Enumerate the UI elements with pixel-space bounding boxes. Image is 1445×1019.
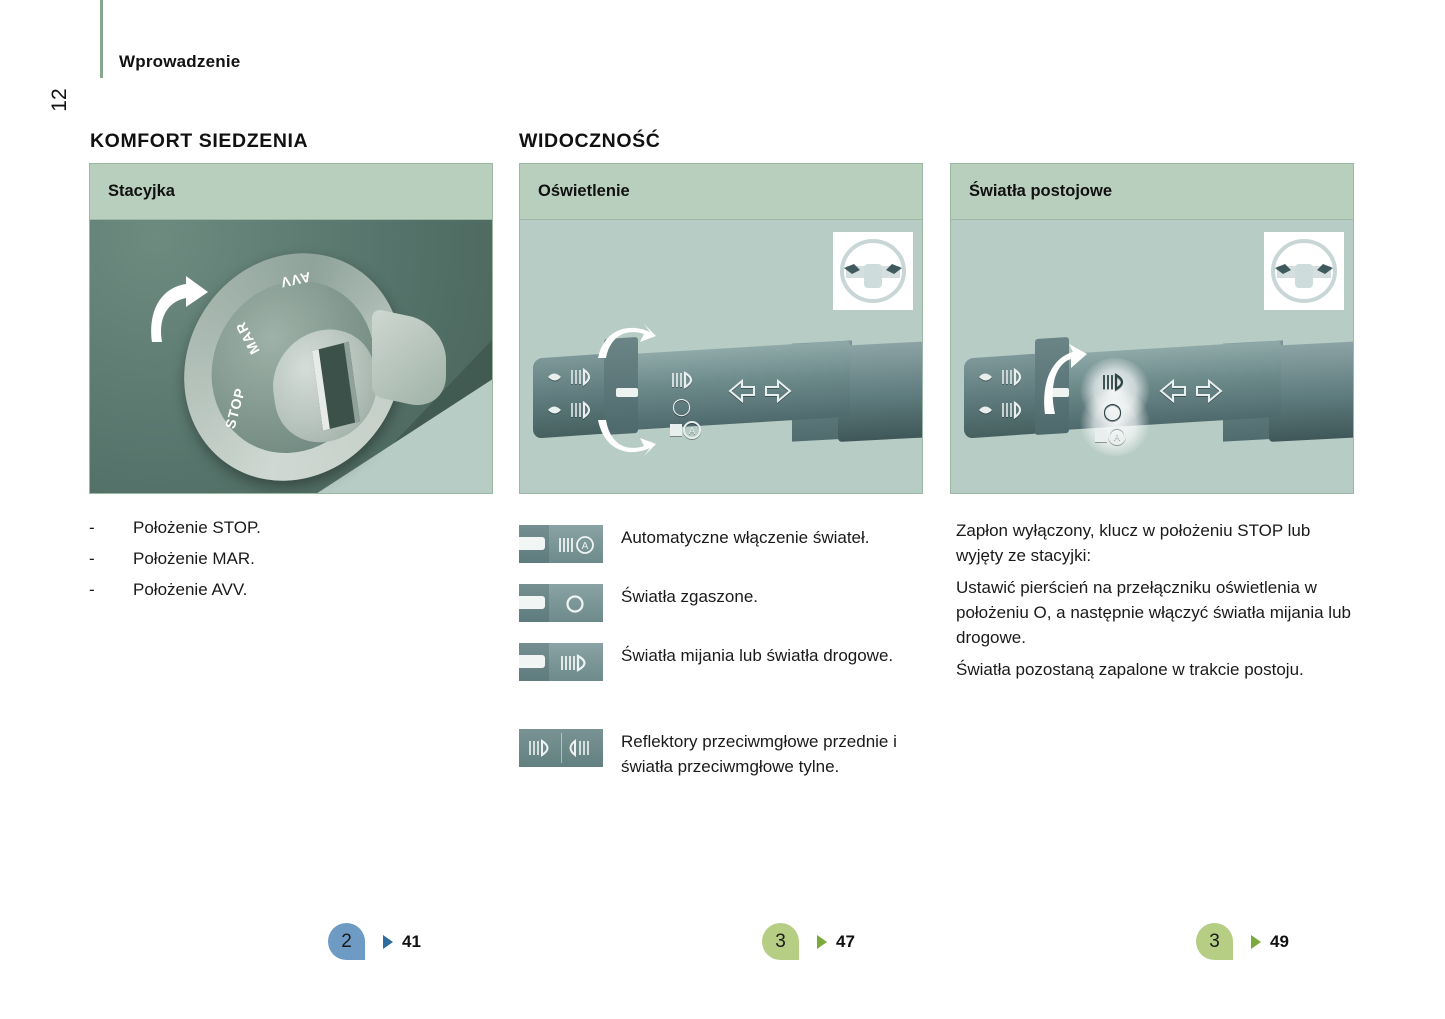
- svg-text:A: A: [582, 541, 589, 552]
- legend-label: Reflektory przeciwmgłowe przednie i świa…: [621, 729, 941, 779]
- paragraph: Zapłon wyłączony, klucz w położeniu STOP…: [956, 518, 1360, 568]
- chapter-title: Wprowadzenie: [119, 52, 240, 72]
- front-fog-light-icon: [977, 367, 1037, 387]
- auto-lights-position-icon: A: [1093, 426, 1129, 446]
- auto-headlights-icon: A: [519, 525, 603, 563]
- parking-lights-description: Zapłon wyłączony, klucz w położeniu STOP…: [956, 518, 1360, 689]
- ignition-barrel: [267, 319, 383, 454]
- swatch-tab: [519, 537, 545, 550]
- panel-header-label: Stacyjka: [108, 182, 175, 201]
- rear-fog-glyph-icon: [569, 738, 599, 758]
- panel-oswietlenie: Oświetlenie: [519, 163, 923, 494]
- steering-wheel-icon: [1269, 238, 1339, 304]
- list-item: - Położenie AVV.: [89, 580, 489, 600]
- list-item: - Położenie MAR.: [89, 549, 489, 569]
- bullet-dash: -: [89, 549, 133, 569]
- ref-arrow-icon: [817, 935, 827, 949]
- stalk-base-arm: [838, 338, 922, 442]
- stalk-index-notch: [616, 388, 638, 397]
- steering-wheel-thumbnail: [1264, 232, 1344, 310]
- lighting-stalk-figure: ◯ A: [520, 220, 922, 493]
- steering-wheel-thumbnail: [833, 232, 913, 310]
- lights-off-position-icon: ◯: [672, 398, 691, 415]
- panel-header-swiatla-postojowe: Światła postojowe: [951, 164, 1353, 220]
- svg-text:A: A: [689, 426, 695, 436]
- legend-item-dipped-main-beam: Światła mijania lub światła drogowe.: [519, 643, 893, 681]
- circle-o-glyph-icon: [565, 594, 585, 614]
- ref-page-number: 49: [1270, 932, 1289, 952]
- ref-arrow-icon: [383, 935, 393, 949]
- steering-wheel-icon: [838, 238, 908, 304]
- legend-item-auto-lights: A Automatyczne włączenie świateł.: [519, 525, 870, 563]
- panel-header-label: Oświetlenie: [538, 182, 630, 201]
- ref-arrow-icon: [1251, 935, 1261, 949]
- legend-label: Automatyczne włączenie świateł.: [621, 525, 870, 550]
- ring-rotate-down-arrow-icon: [594, 416, 658, 462]
- legend-item-lights-off: Światła zgaszone.: [519, 584, 758, 622]
- ignition-positions-list: - Położenie STOP. - Położenie MAR. - Poł…: [89, 518, 489, 611]
- fog-lights-icon: [519, 729, 603, 767]
- front-fog-glyph-icon: [527, 738, 557, 758]
- chapter-badge: 2: [328, 923, 365, 960]
- panel-header-stacyjka: Stacyjka: [90, 164, 492, 220]
- dipped-beam-position-icon: [1101, 372, 1135, 392]
- chapter-badge: 3: [762, 923, 799, 960]
- swatch-tab: [519, 655, 545, 668]
- paragraph: Światła pozostaną zapalone w trakcie pos…: [956, 657, 1360, 682]
- rear-fog-light-icon: [977, 400, 1037, 420]
- ignition-ring-inner: [201, 263, 386, 470]
- lights-off-icon: [519, 584, 603, 622]
- swatch-tab: [519, 596, 545, 609]
- panel-header-oswietlenie: Oświetlenie: [520, 164, 922, 220]
- legend-label: Światła zgaszone.: [621, 584, 758, 609]
- list-item-label: Położenie MAR.: [133, 549, 255, 569]
- ignition-switch-figure: AVV MAR STOP: [90, 220, 492, 493]
- cross-reference-2[interactable]: 3 47: [762, 923, 855, 960]
- auto-beam-glyph-icon: A: [557, 536, 599, 554]
- auto-lights-position-icon: A: [668, 420, 704, 440]
- ring-rotate-up-arrow-icon: [594, 320, 658, 362]
- list-item: - Położenie STOP.: [89, 518, 489, 538]
- page-number: 12: [38, 78, 82, 122]
- cross-reference-1[interactable]: 2 41: [328, 923, 421, 960]
- turn-indicator-icon: [1159, 378, 1223, 404]
- rotation-arrow-icon: [146, 276, 210, 346]
- chapter-badge: 3: [1196, 923, 1233, 960]
- panel-swiatla-postojowe: Światła postojowe: [950, 163, 1354, 494]
- turn-indicator-icon: [728, 378, 792, 404]
- paragraph: Ustawić pierścień na przełączniku oświet…: [956, 575, 1360, 650]
- lights-off-position-icon: ◯: [1103, 403, 1122, 420]
- beam-glyph-icon: [559, 654, 597, 672]
- front-fog-light-icon: [546, 367, 606, 387]
- ref-page-number: 47: [836, 932, 855, 952]
- section-heading-comfort: KOMFORT SIEDZENIA: [90, 130, 308, 153]
- svg-text:A: A: [1114, 432, 1120, 442]
- swatch-divider: [561, 733, 562, 763]
- legend-item-fog-lights: Reflektory przeciwmgłowe przednie i świa…: [519, 729, 941, 779]
- header-accent-rule: [100, 0, 103, 78]
- cross-reference-3[interactable]: 3 49: [1196, 923, 1289, 960]
- parking-lights-stalk-figure: ◯ A: [951, 220, 1353, 493]
- bullet-dash: -: [89, 518, 133, 538]
- section-heading-visibility: WIDOCZNOŚĆ: [519, 130, 660, 153]
- dipped-main-beam-icon: [519, 643, 603, 681]
- panel-header-label: Światła postojowe: [969, 182, 1112, 201]
- list-item-label: Położenie STOP.: [133, 518, 261, 538]
- dipped-beam-position-icon: [670, 370, 704, 390]
- panel-stacyjka: Stacyjka AVV MAR STOP: [89, 163, 493, 494]
- legend-label: Światła mijania lub światła drogowe.: [621, 643, 893, 668]
- stalk-base-arm: [1269, 338, 1353, 442]
- bullet-dash: -: [89, 580, 133, 600]
- ring-rotate-up-arrow-icon: [1041, 344, 1091, 416]
- ignition-key-slot: [312, 342, 360, 431]
- list-item-label: Położenie AVV.: [133, 580, 247, 600]
- ref-page-number: 41: [402, 932, 421, 952]
